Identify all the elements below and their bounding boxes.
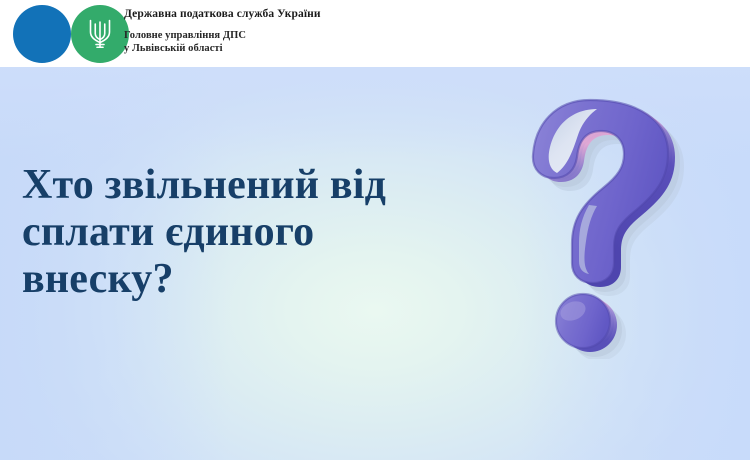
- question-mark-3d-icon: [527, 89, 727, 359]
- blue-circle-mark-icon: [13, 5, 71, 63]
- organization-unit-line-2: у Львівській області: [124, 43, 454, 56]
- poster-body: Хто звільнений від сплати єдиного внеску…: [0, 67, 750, 460]
- poster-canvas: Державна податкова служба України Головн…: [0, 0, 750, 460]
- page-title-line-3: внеску?: [22, 256, 502, 303]
- organization-title: Державна податкова служба України: [124, 8, 454, 21]
- organization-unit: Головне управління ДПС у Львівській обла…: [124, 30, 454, 55]
- header-band: Державна податкова служба України Головн…: [0, 0, 750, 67]
- page-title-line-1: Хто звільнений від: [22, 162, 502, 209]
- organization-unit-line-1: Головне управління ДПС: [124, 30, 454, 43]
- page-title-line-2: сплати єдиного: [22, 209, 502, 256]
- page-title: Хто звільнений від сплати єдиного внеску…: [22, 162, 502, 303]
- agency-header-text: Державна податкова служба України Головн…: [124, 8, 454, 55]
- agency-logo: [13, 5, 129, 63]
- ukrainian-trident-icon: [71, 5, 129, 63]
